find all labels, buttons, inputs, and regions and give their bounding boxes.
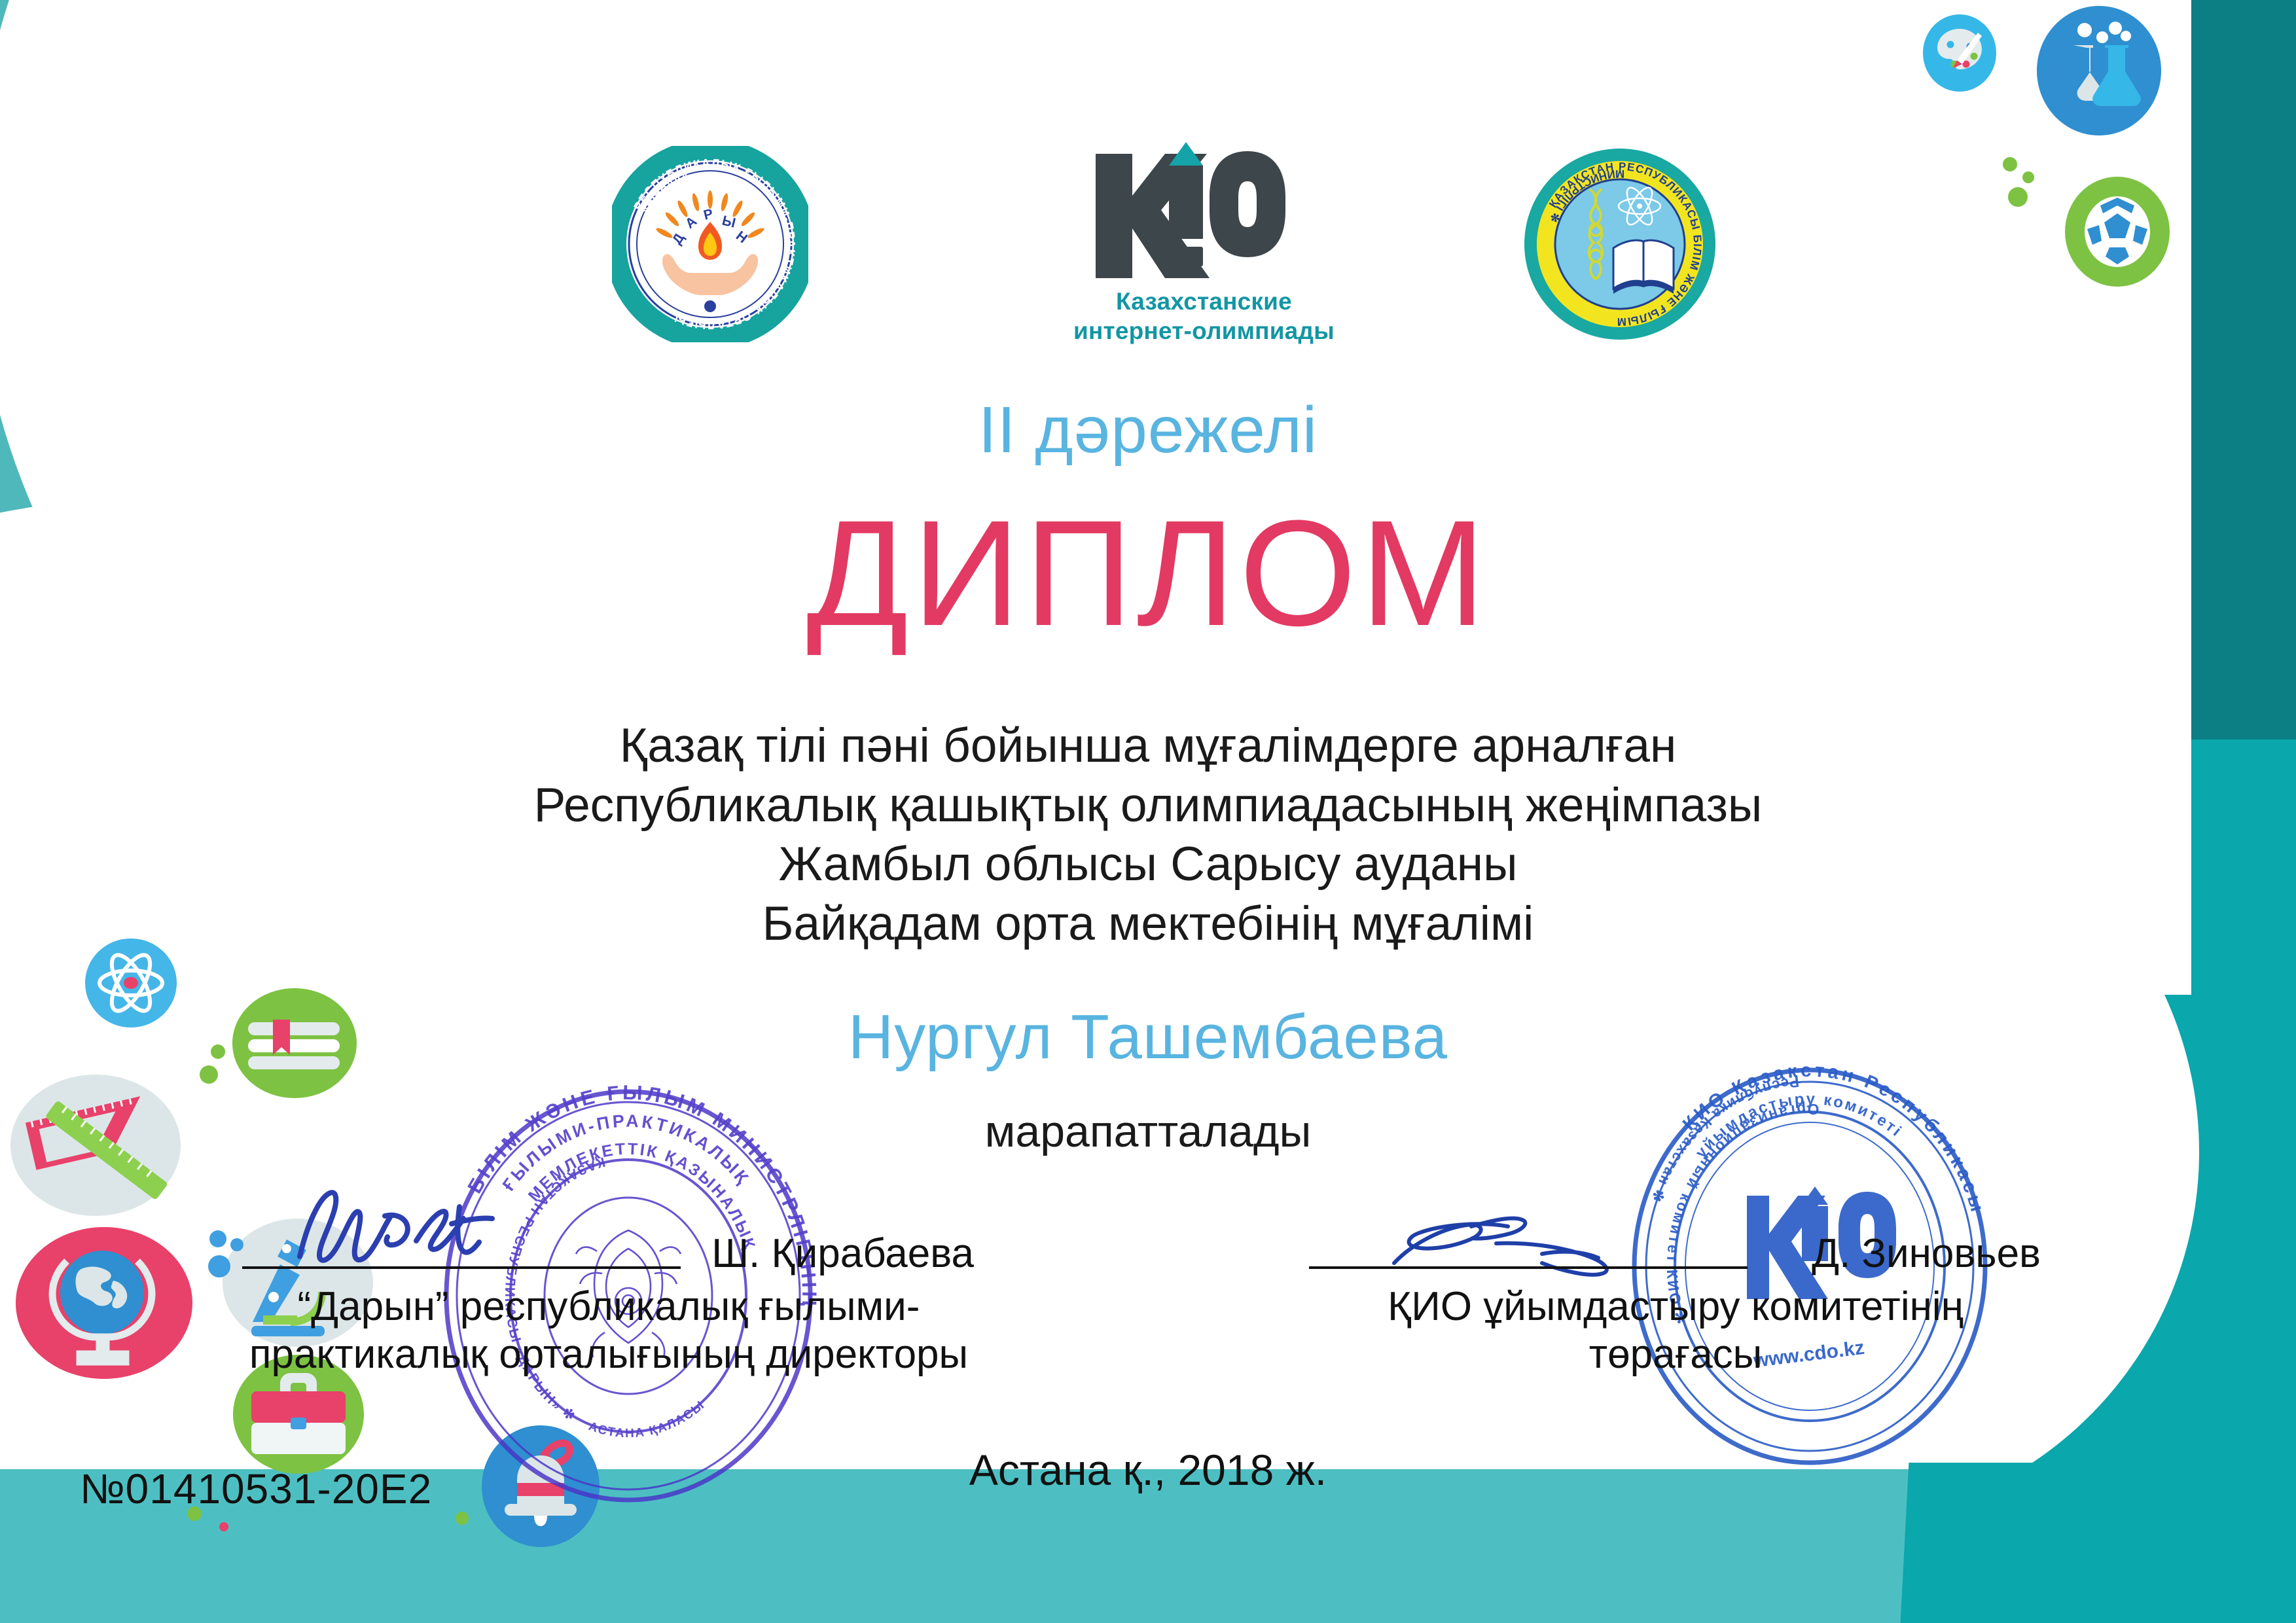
kio-subtitle-line1: Казахстанские xyxy=(1073,287,1335,316)
ministry-emblem: ҚАЗАҚСТАН РЕСПУБЛИКАСЫ БІЛІМ ЖӘНЕ ҒЫЛЫМ … xyxy=(1522,146,1718,346)
signature-line-left xyxy=(242,1266,681,1269)
body-line-4: Байқадам орта мектебінің мұғалімі xyxy=(0,895,2296,954)
certificate-content: РЕСПУБЛИКАЛЫҚ ҒЫЛЫМИ-ПРАКТИКАЛЫҚ ОРТАЛЫҒ… xyxy=(0,0,2296,1623)
awarded-text: марапатталады xyxy=(0,1106,2296,1157)
signatory-title-right: ҚИО ұйымдастыру комитетінің төрағасы xyxy=(1283,1283,2068,1378)
body-line-2: Республикалық қашықтық олимпиадасының же… xyxy=(0,776,2296,836)
daryn-emblem: РЕСПУБЛИКАЛЫҚ ҒЫЛЫМИ-ПРАКТИКАЛЫҚ ОРТАЛЫҒ… xyxy=(612,146,808,346)
body-text: Қазақ тілі пәні бойынша мұғалімдерге арн… xyxy=(0,717,2296,954)
svg-text:АСТАНА ҚАЛАСЫ: АСТАНА ҚАЛАСЫ xyxy=(586,1398,708,1440)
degree-label: II дәрежелі xyxy=(0,393,2296,468)
signatory-title-right-line1: ҚИО ұйымдастыру комитетінің xyxy=(1283,1283,2068,1331)
emblem-row: РЕСПУБЛИКАЛЫҚ ҒЫЛЫМИ-ПРАКТИКАЛЫҚ ОРТАЛЫҒ… xyxy=(0,95,2296,370)
kio-logo: Казахстанские интернет-олимпиады xyxy=(1073,128,1335,346)
kio-subtitle: Казахстанские интернет-олимпиады xyxy=(1073,287,1335,346)
place-and-date: Астана қ., 2018 ж. xyxy=(0,1445,2296,1495)
kio-subtitle-line2: интернет-олимпиады xyxy=(1073,316,1335,346)
recipient-name: Нургул Ташембаева xyxy=(0,1001,2296,1073)
signatory-title-right-line2: төрағасы xyxy=(1283,1331,2068,1379)
body-line-3: Жамбыл облысы Сарысу ауданы xyxy=(0,835,2296,895)
signature-block-left: Ш. Қирабаева “Дарын” республикалық ғылым… xyxy=(216,1201,1001,1378)
signatory-name-right: Д. Зиновьев xyxy=(1812,1230,2041,1277)
signatory-title-left-line2: практикалық орталығының директоры xyxy=(216,1331,1001,1379)
diploma-certificate: РЕСПУБЛИКАЛЫҚ ҒЫЛЫМИ-ПРАКТИКАЛЫҚ ОРТАЛЫҒ… xyxy=(0,0,2296,1623)
signatory-title-left-line1: “Дарын” республикалық ғылыми- xyxy=(216,1283,1001,1331)
body-line-1: Қазақ тілі пәні бойынша мұғалімдерге арн… xyxy=(0,717,2296,776)
signatory-title-left: “Дарын” республикалық ғылыми- практикалы… xyxy=(216,1283,1001,1378)
signatory-name-left: Ш. Қирабаева xyxy=(711,1230,974,1277)
signature-block-right: Д. Зиновьев ҚИО ұйымдастыру комитетінің … xyxy=(1283,1201,2068,1378)
signature-line-right xyxy=(1309,1266,1748,1269)
page-title: ДИПЛОМ xyxy=(0,494,2296,652)
